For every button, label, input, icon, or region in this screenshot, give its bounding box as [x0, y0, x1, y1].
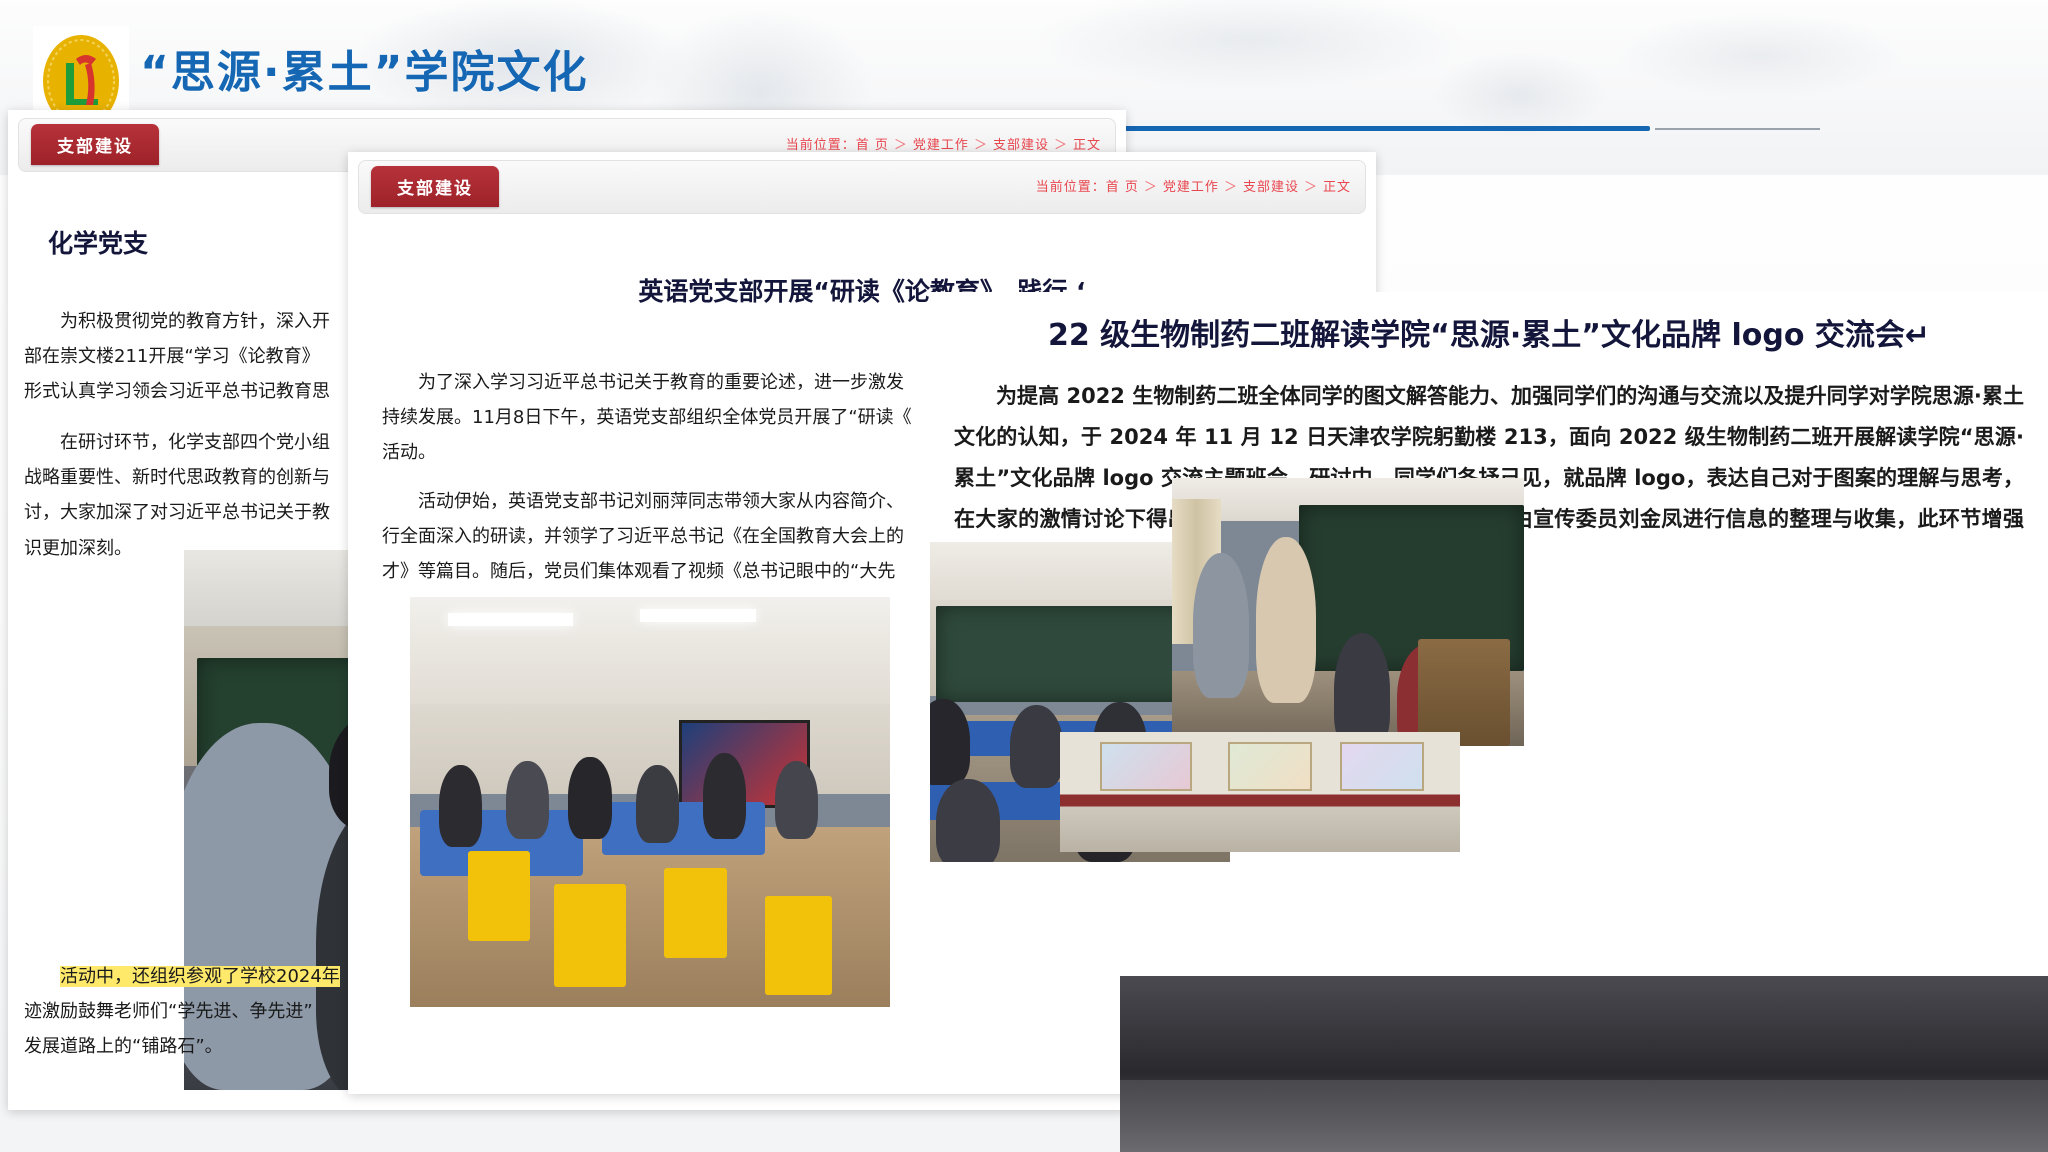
left-highlight-text: 活动中，还组织参观了学校2024年 — [60, 966, 340, 987]
title-rule-blue — [1105, 126, 1650, 131]
crumb-m-sep0: ＞ — [1144, 180, 1158, 195]
crumb-item-2[interactable]: 支部建设 — [993, 138, 1049, 153]
crumb-m-3: 正文 — [1323, 180, 1351, 195]
crumb-m-1[interactable]: 党建工作 — [1163, 180, 1219, 195]
corridor-photo-bottom — [1060, 732, 1460, 852]
crumb-sep-1: ＞ — [974, 138, 988, 153]
left-p3-line2: 迹激励鼓舞老师们“学先进、争先进” — [24, 994, 340, 1029]
crumb-m-sep2: ＞ — [1304, 180, 1318, 195]
section-tag-middle[interactable]: 支部建设 — [371, 166, 499, 207]
classroom-photo-right-2 — [1172, 478, 1524, 746]
window-right-document[interactable]: 22 级生物制药二班解读学院“思源·累土”文化品牌 logo 交流会↵ 为提高 … — [930, 292, 2048, 976]
page-title: “思源·累土”学院文化 — [140, 36, 589, 100]
left-p3-highlight: 活动中，还组织参观了学校2024年 — [24, 959, 340, 994]
crumb-m-sep1: ＞ — [1224, 180, 1238, 195]
crumb-m-2[interactable]: 支部建设 — [1243, 180, 1299, 195]
right-doc-title: 22 级生物制药二班解读学院“思源·累土”文化品牌 logo 交流会↵ — [930, 310, 2048, 354]
section-tag-left[interactable]: 支部建设 — [31, 124, 159, 165]
classroom-photo-middle — [410, 597, 890, 1007]
crumb-item-3: 正文 — [1073, 138, 1101, 153]
crumb-m-0[interactable]: 首 页 — [1106, 180, 1139, 195]
middle-topbar: 支部建设 当前位置：首 页＞党建工作＞支部建设＞正文 — [358, 160, 1366, 214]
breadcrumb-middle: 当前位置：首 页＞党建工作＞支部建设＞正文 — [1036, 176, 1351, 195]
crumb-sep-0: ＞ — [894, 138, 908, 153]
left-p3-line3: 发展道路上的“铺路石”。 — [24, 1029, 340, 1064]
crumb-item-1[interactable]: 党建工作 — [913, 138, 969, 153]
breadcrumb-left: 当前位置：首 页＞党建工作＞支部建设＞正文 — [786, 134, 1101, 153]
crumb-item-0[interactable]: 首 页 — [856, 138, 889, 153]
presentation-slide: 累土 “思源·累土”学院文化 支部建设 当前位置：首 页＞党建工作＞支部建设＞正… — [0, 0, 2048, 1152]
crumb-sep-2: ＞ — [1054, 138, 1068, 153]
breadcrumb-label: 当前位置： — [786, 138, 856, 153]
breadcrumb-label-m: 当前位置： — [1036, 180, 1106, 195]
bottom-strip-floor-sheen — [1120, 1080, 2048, 1152]
title-rule-grey — [1655, 128, 1820, 130]
